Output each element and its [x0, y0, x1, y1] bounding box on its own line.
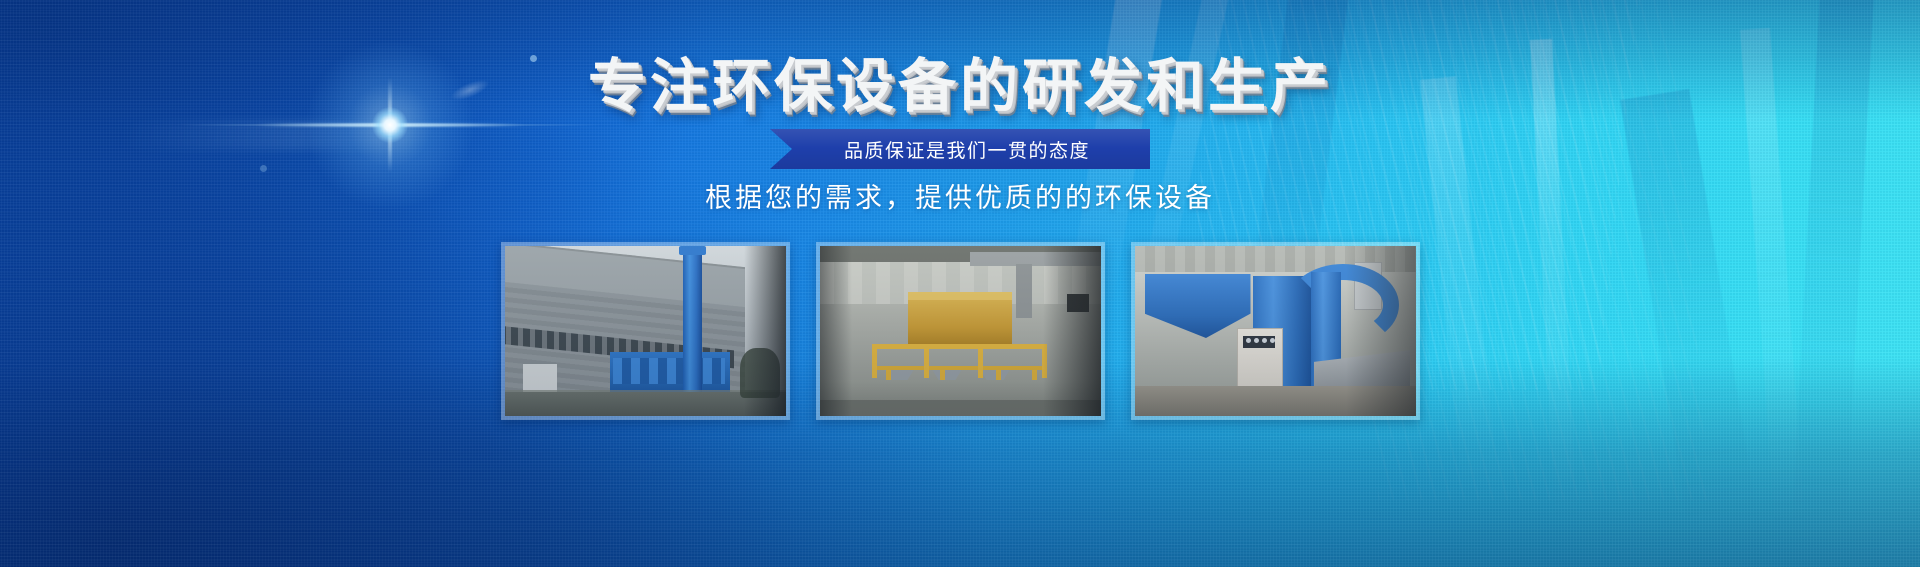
- photo-image-1: [505, 246, 786, 416]
- p3-tone: [1135, 246, 1416, 416]
- photo-card-1[interactable]: [501, 242, 790, 420]
- subtitle: 根据您的需求，提供优质的的环保设备: [0, 176, 1920, 215]
- hero-banner: 专注环保设备的研发和生产 品质保证是我们一贯的态度 根据您的需求，提供优质的的环…: [0, 0, 1920, 567]
- p1-tone: [505, 246, 786, 416]
- photo-card-3[interactable]: [1131, 242, 1420, 420]
- photo-card-2[interactable]: [816, 242, 1105, 420]
- ribbon-container: 品质保证是我们一贯的态度: [0, 129, 1920, 169]
- status-badge: 品质保证是我们一贯的态度: [770, 129, 1150, 169]
- photo-image-2: [820, 246, 1101, 416]
- p2-tone: [820, 246, 1101, 416]
- page-title: 专注环保设备的研发和生产: [0, 57, 1920, 115]
- photo-image-3: [1135, 246, 1416, 416]
- banner-content: 专注环保设备的研发和生产 品质保证是我们一贯的态度 根据您的需求，提供优质的的环…: [0, 0, 1920, 567]
- photo-card-list: [0, 242, 1920, 420]
- ribbon-label: 品质保证是我们一贯的态度: [830, 136, 1090, 163]
